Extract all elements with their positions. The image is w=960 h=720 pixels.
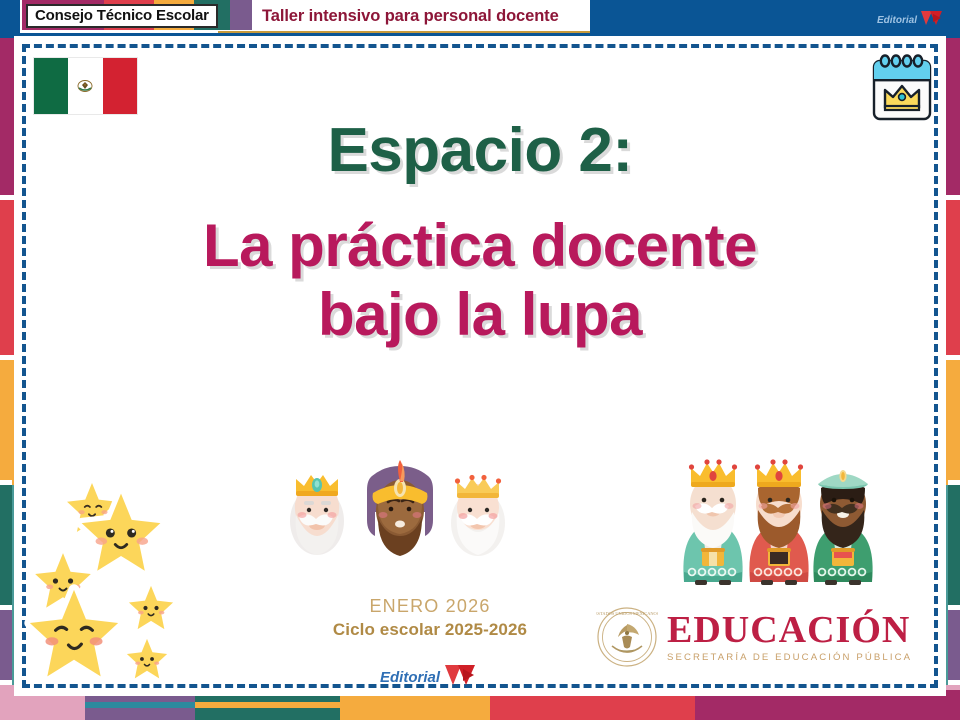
bottom-strip-upper-1 <box>195 702 485 708</box>
flag-white-band <box>68 58 102 114</box>
school-cycle-label: Ciclo escolar 2025-2026 <box>280 620 580 640</box>
sep-title: EDUCACIÓN <box>667 611 912 649</box>
sep-logo: ESTADOS UNIDOS MEXICANOS EDUCACIÓN SECRE… <box>596 606 932 668</box>
month-year-label: ENERO 2026 <box>280 596 580 617</box>
three-wise-men-figures-illustration <box>668 452 878 587</box>
badge-strip-segment-4 <box>230 0 252 30</box>
title-line-2: La práctica docente <box>0 211 960 280</box>
sep-seal-icon: ESTADOS UNIDOS MEXICANOS <box>596 606 658 668</box>
header-subtitle-underline <box>218 31 590 33</box>
editorial-md-mark-icon <box>920 9 944 32</box>
mexican-flag-icon <box>33 57 138 115</box>
date-block: ENERO 2026 Ciclo escolar 2025-2026 <box>280 596 580 640</box>
bottom-strip-upper-0 <box>85 702 195 708</box>
header-brand-word: Editorial <box>877 15 917 26</box>
svg-text:ESTADOS UNIDOS MEXICANOS: ESTADOS UNIDOS MEXICANOS <box>596 611 658 616</box>
flag-green-band <box>34 58 68 114</box>
sep-subtitle: SECRETARÍA DE EDUCACIÓN PÚBLICA <box>667 652 912 663</box>
header-subtitle: Taller intensivo para personal docente <box>262 7 559 26</box>
footer-brand-word: Editorial <box>380 669 440 686</box>
slide-title-block: Espacio 2: La práctica docente bajo la l… <box>0 118 960 349</box>
title-line-3: bajo la lupa <box>0 280 960 349</box>
flag-red-band <box>103 58 137 114</box>
editorial-md-mark-icon <box>444 662 478 693</box>
calendar-crown-icon <box>866 50 938 124</box>
cte-badge: Consejo Técnico Escolar <box>26 4 218 28</box>
three-wise-men-faces-illustration <box>262 455 522 575</box>
bottom-color-strips-upper <box>0 702 960 720</box>
header-editorial-md-logo: Editorial <box>877 9 944 32</box>
flag-eagle-emblem-icon <box>75 76 95 96</box>
footer-editorial-md-logo: Editorial <box>380 662 478 693</box>
title-line-1: Espacio 2: <box>0 118 960 183</box>
kawaii-stars-illustration <box>18 470 218 685</box>
